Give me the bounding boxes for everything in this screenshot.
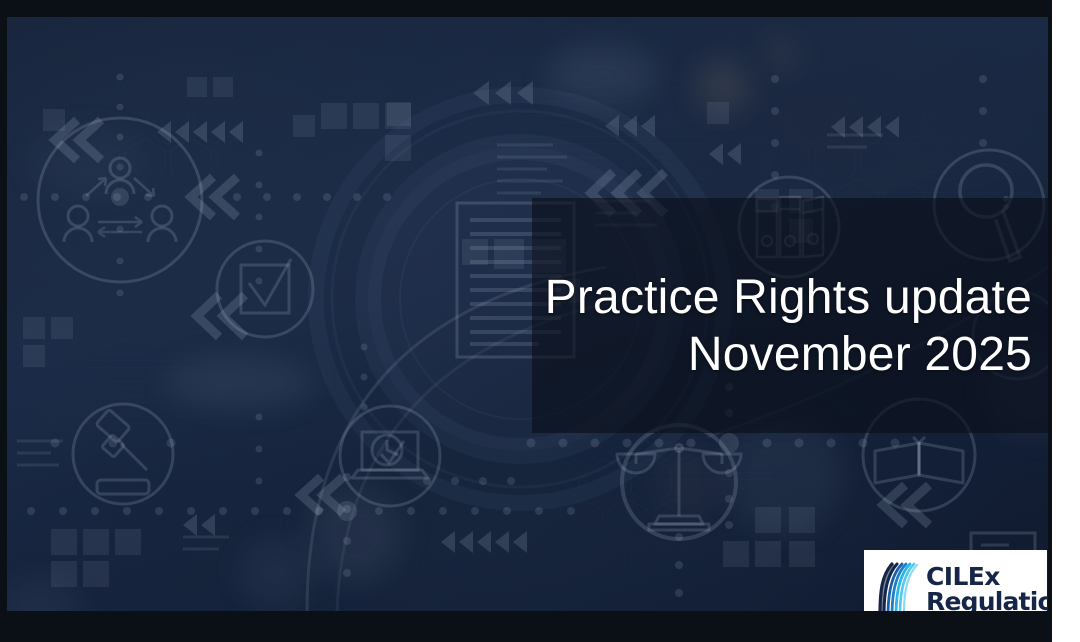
square-cluster [387,102,411,126]
square-cluster [23,317,73,367]
square-cluster [43,109,65,131]
triangle-arrow-row [709,143,741,165]
slide-canvas: Practice Rights update November 2025 [7,17,1048,611]
slide-frame: Practice Rights update November 2025 [0,0,1052,642]
cilex-regulation-logo: CILEx Regulation [864,550,1047,611]
chevron-left-icon [191,177,237,217]
checkbox-tick-icon [217,241,313,337]
gavel-icon [73,404,173,504]
square-cluster [293,115,315,137]
square-cluster [187,77,233,97]
triangle-arrow-row [157,121,243,143]
logo-line-2: Regulation [926,589,1048,611]
triangle-arrow-row [441,531,527,553]
square-cluster [707,102,729,124]
chevron-left-icon [883,485,929,525]
screenshot-root: Practice Rights update November 2025 [0,0,1080,642]
title-line-1: Practice Rights update [392,269,1032,326]
square-cluster [723,507,815,567]
square-cluster [51,529,141,587]
triangle-arrow-row [183,514,215,536]
tick-lines [827,135,883,147]
cilex-wave-mark [875,561,919,611]
title-line-2: November 2025 [392,326,1032,383]
chevron-left-icon [197,295,245,337]
slide-title: Practice Rights update November 2025 [392,269,1032,383]
logo-wordmark: CILEx Regulation [926,564,1048,612]
logo-line-1: CILEx [926,564,1048,590]
tick-lines [183,537,229,549]
scales-of-justice-icon [617,425,741,539]
